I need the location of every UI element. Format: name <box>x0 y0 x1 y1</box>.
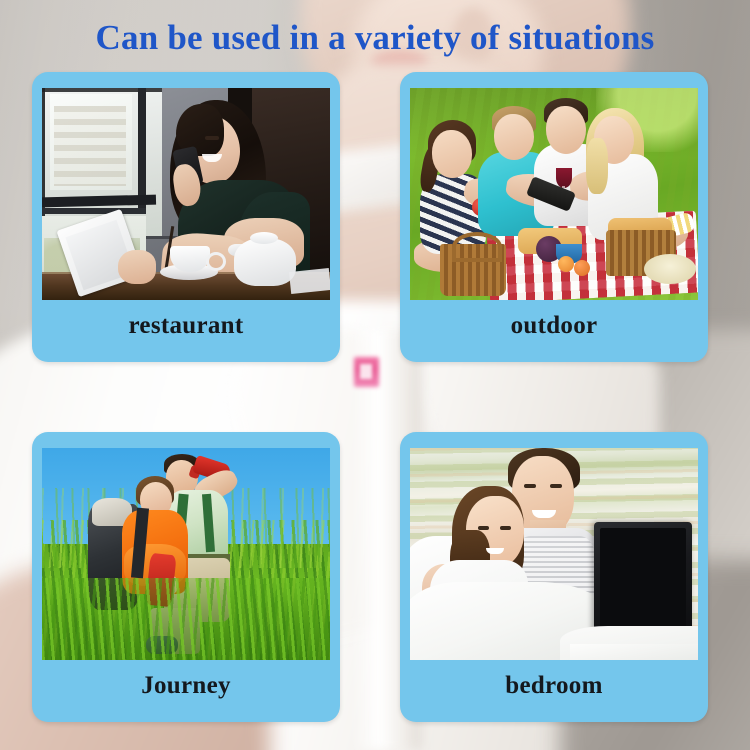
straw-hat <box>644 254 696 284</box>
card-journey[interactable]: Journey <box>32 432 340 722</box>
girl1-head <box>432 130 472 178</box>
photo-bedroom <box>410 448 698 660</box>
wine-glass <box>556 168 572 188</box>
card-label-outdoor: outdoor <box>400 312 708 340</box>
man2-head <box>546 106 586 154</box>
woman-hand-tablet <box>118 250 156 284</box>
orange-fruit-1 <box>558 256 574 272</box>
woman-eye <box>205 136 219 140</box>
man1-head <box>494 114 534 160</box>
photo-journey <box>42 448 330 660</box>
teapot <box>234 238 296 286</box>
teapot-lid <box>250 232 278 244</box>
card-label-journey: Journey <box>32 672 340 700</box>
photo-outdoor <box>410 88 698 300</box>
foreground-grass <box>42 578 330 660</box>
window-sill-lower <box>42 208 146 214</box>
orange-fruit-2 <box>574 260 590 276</box>
woman-eye-left <box>478 526 489 530</box>
page-title: Can be used in a variety of situations <box>0 18 750 58</box>
background-shirt-logo-inner <box>360 364 372 379</box>
card-label-restaurant: restaurant <box>32 312 340 340</box>
napkin <box>289 268 330 294</box>
man-eye-right <box>550 484 562 488</box>
woman-eye-right <box>500 526 511 530</box>
card-restaurant[interactable]: restaurant <box>32 72 340 362</box>
basket-handle <box>452 232 502 262</box>
window-mullion <box>138 88 146 208</box>
coffee-cup-handle <box>206 252 226 271</box>
laptop-screen <box>600 528 686 636</box>
photo-restaurant <box>42 88 330 300</box>
man-eye-left <box>524 484 536 488</box>
card-label-bedroom: bedroom <box>400 672 708 700</box>
bed-sheet <box>570 644 698 660</box>
card-outdoor[interactable]: outdoor <box>400 72 708 362</box>
woman2-hair-strand <box>586 138 608 194</box>
card-bedroom[interactable]: bedroom <box>400 432 708 722</box>
